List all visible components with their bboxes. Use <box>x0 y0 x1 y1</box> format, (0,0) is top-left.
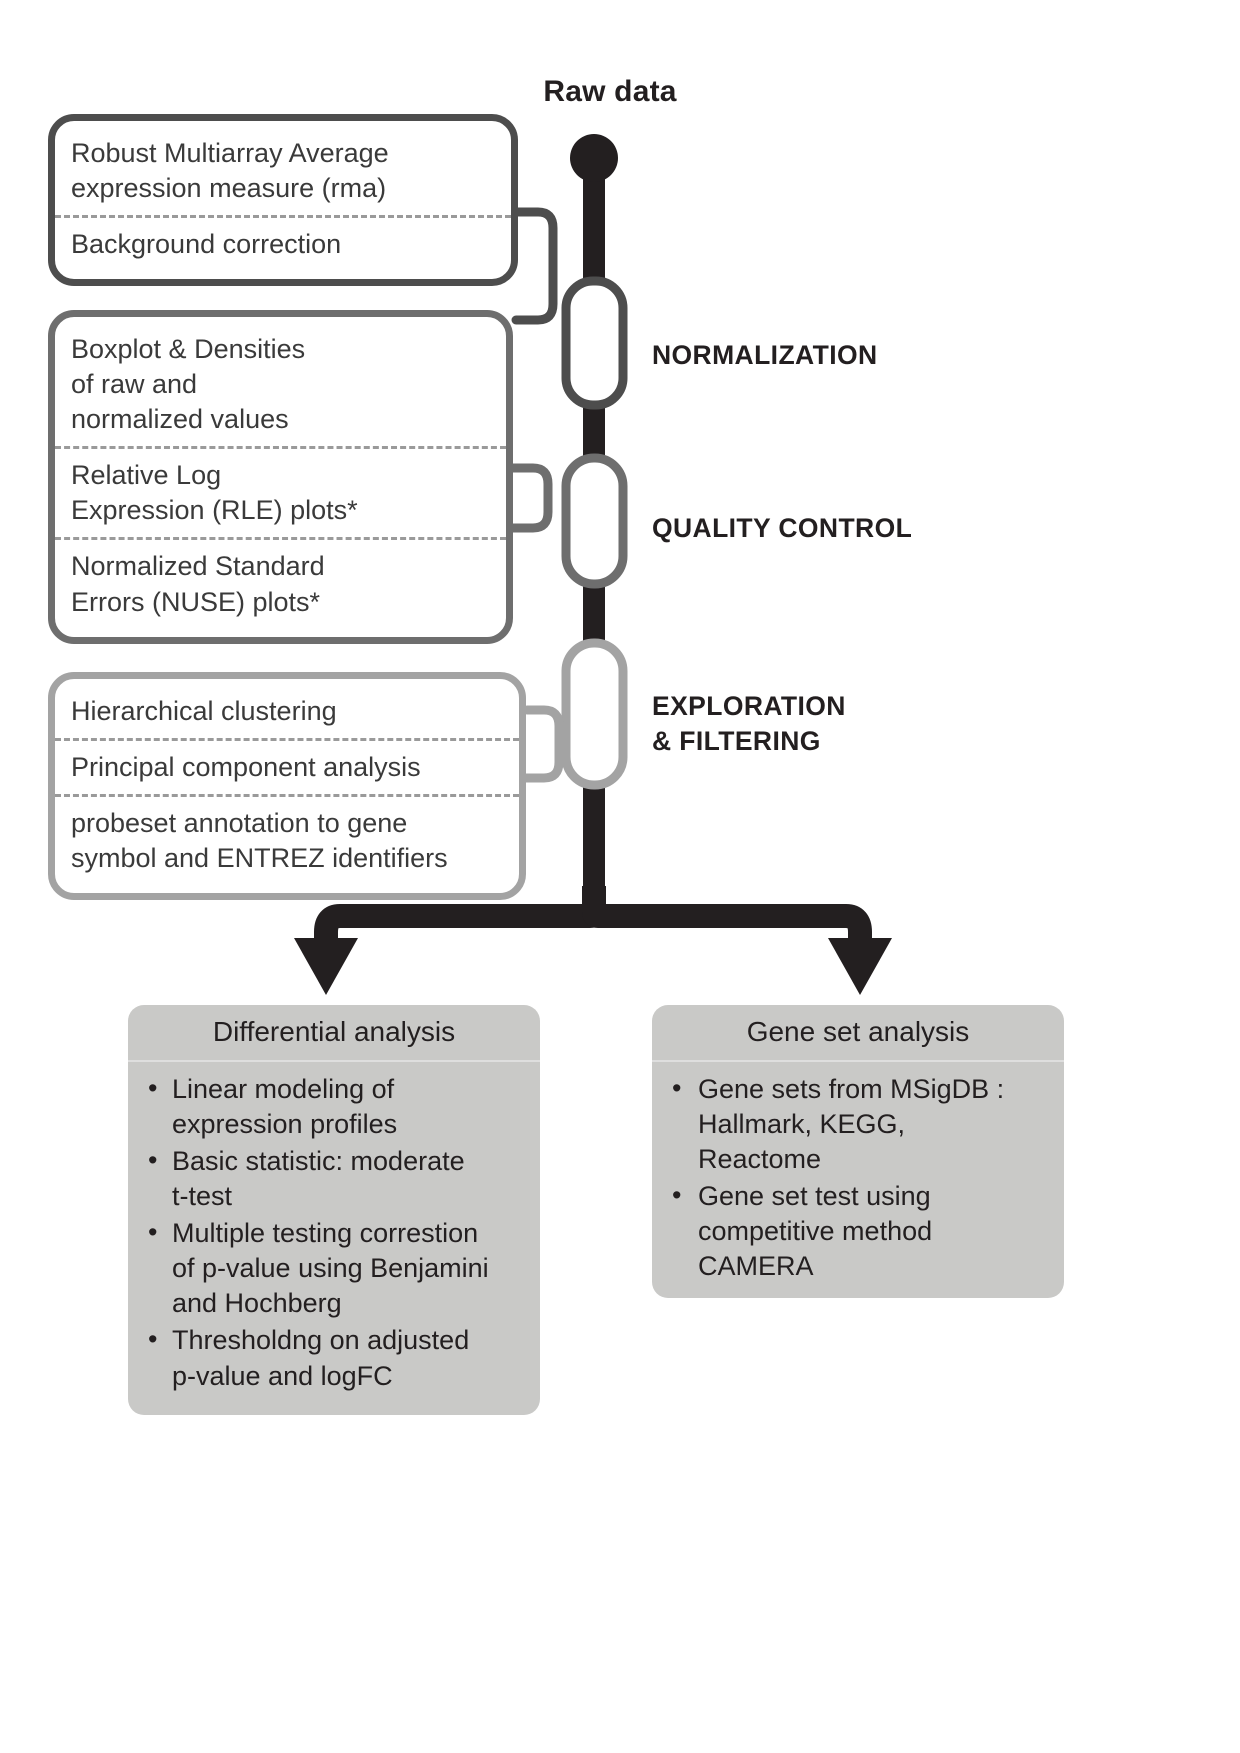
stage-label-quality-control: QUALITY CONTROL <box>652 511 912 546</box>
detail-row: Principal component analysis <box>55 738 519 794</box>
page-title: Raw data <box>460 75 760 109</box>
stage-label-exploration-filtering: EXPLORATION & FILTERING <box>652 689 846 759</box>
outcome-bullet-list: Linear modeling of expression profiles B… <box>128 1062 540 1406</box>
detail-card-normalization: Robust Multiarray Average expression mea… <box>48 114 518 286</box>
detail-row: Boxplot & Densities of raw and normalize… <box>55 323 506 446</box>
detail-row: probeset annotation to gene symbol and E… <box>55 794 519 885</box>
detail-card-exploration-filtering: Hierarchical clustering Principal compon… <box>48 672 526 900</box>
list-item: Gene sets from MSigDB : Hallmark, KEGG, … <box>668 1072 1050 1177</box>
outcome-panel-gene-set-analysis: Gene set analysis Gene sets from MSigDB … <box>652 1005 1064 1298</box>
diagram-canvas: Raw data Robust Multiarray Average expre… <box>0 0 1240 1753</box>
detail-row: Robust Multiarray Average expression mea… <box>55 127 511 215</box>
detail-row: Normalized Standard Errors (NUSE) plots* <box>55 537 506 628</box>
stage-label-normalization: NORMALIZATION <box>652 338 878 373</box>
detail-row: Background correction <box>55 215 511 271</box>
detail-card-quality-control: Boxplot & Densities of raw and normalize… <box>48 310 513 644</box>
outcome-panel-differential-analysis: Differential analysis Linear modeling of… <box>128 1005 540 1415</box>
outcome-bullet-list: Gene sets from MSigDB : Hallmark, KEGG, … <box>652 1062 1064 1297</box>
list-item: Basic statistic: moderate t-test <box>144 1144 526 1214</box>
outcome-title: Gene set analysis <box>652 1005 1064 1062</box>
outcome-title: Differential analysis <box>128 1005 540 1062</box>
detail-row: Hierarchical clustering <box>55 685 519 738</box>
list-item: Linear modeling of expression profiles <box>144 1072 526 1142</box>
list-item: Multiple testing correstion of p-value u… <box>144 1216 526 1321</box>
list-item: Thresholdng on adjusted p-value and logF… <box>144 1323 526 1393</box>
detail-row: Relative Log Expression (RLE) plots* <box>55 446 506 537</box>
list-item: Gene set test using competitive method C… <box>668 1179 1050 1284</box>
